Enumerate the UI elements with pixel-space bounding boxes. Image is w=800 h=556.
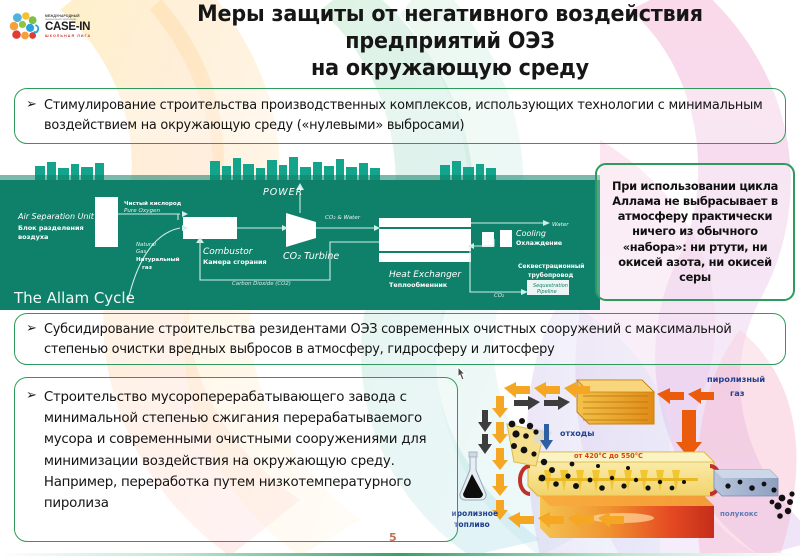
svg-text:POWER: POWER <box>263 187 303 198</box>
brain-icon <box>8 10 42 44</box>
label-temperature: от 420°С до 550°С <box>574 452 643 460</box>
svg-text:CO₂: CO₂ <box>494 293 505 299</box>
page-title: Меры защиты от негативного воздействия п… <box>125 2 775 82</box>
svg-text:Cooling: Cooling <box>516 229 546 238</box>
label-pyrolysis-gas-line1: пиролизный <box>707 374 765 384</box>
svg-text:Heat Exchanger: Heat Exchanger <box>389 270 462 280</box>
svg-text:воздуха: воздуха <box>18 233 48 241</box>
svg-text:Натуральный: Натуральный <box>136 256 180 263</box>
bullet-arrow-icon: ➢ <box>26 320 44 338</box>
bullet-text-1: Стимулирование строительства производств… <box>44 96 764 136</box>
label-semicoke: полукокс <box>720 510 758 518</box>
bullet-box-3: ➢ Строительство мусороперерабатывающего … <box>14 377 458 542</box>
slide-header: МЕЖДУНАРОДНЫЙ инженерный чемпионат CASE-… <box>0 0 800 78</box>
allam-cycle-diagram: Air Separation Unit Блок разделения возд… <box>0 180 600 310</box>
label-pyrolysis-gas-line2: газ <box>730 388 745 398</box>
mouse-cursor-icon <box>455 366 471 384</box>
city-skyline-decoration <box>0 155 600 181</box>
svg-text:Pure Oxygen: Pure Oxygen <box>124 208 160 214</box>
svg-text:Блок разделения: Блок разделения <box>18 224 84 232</box>
svg-text:Air Separation Unit: Air Separation Unit <box>17 212 95 221</box>
page-title-line2: на окружающую среду <box>125 56 775 83</box>
svg-text:CO₂ & Water: CO₂ & Water <box>325 215 361 221</box>
label-waste: отходы <box>560 429 594 438</box>
svg-text:Natural: Natural <box>136 242 156 248</box>
logo-line-school-league: ШКОЛЬНАЯ ЛИГА <box>45 35 91 39</box>
logo-brand-name: CASE-IN <box>45 22 91 34</box>
bullet-text-2: Субсидирование строительства резидентами… <box>44 320 764 359</box>
slide: МЕЖДУНАРОДНЫЙ инженерный чемпионат CASE-… <box>0 0 800 556</box>
svg-text:Охлаждение: Охлаждение <box>516 240 562 247</box>
svg-text:Combustor: Combustor <box>203 247 254 257</box>
bullet-arrow-icon: ➢ <box>26 96 44 114</box>
svg-text:Чистый кислород: Чистый кислород <box>124 200 182 207</box>
bullet-box-2: ➢ Субсидирование строительства резидента… <box>14 313 786 365</box>
case-in-logo: МЕЖДУНАРОДНЫЙ инженерный чемпионат CASE-… <box>8 6 100 48</box>
svg-text:Pipeline: Pipeline <box>537 289 557 295</box>
label-fuel-line2: топливо <box>454 520 490 529</box>
bullet-text-3: Строительство мусороперерабатывающего за… <box>44 387 449 514</box>
svg-text:Камера сгорания: Камера сгорания <box>203 258 267 266</box>
svg-text:CO₂ Turbine: CO₂ Turbine <box>283 251 339 262</box>
bullet-arrow-icon: ➢ <box>26 387 44 405</box>
svg-text:трубопровод: трубопровод <box>528 272 573 279</box>
svg-text:газ: газ <box>142 265 152 271</box>
note-box-text: При использовании цикла Аллама не выбрас… <box>604 179 786 285</box>
svg-text:Carbon Dioxide (CO2): Carbon Dioxide (CO2) <box>232 281 291 287</box>
note-box-allam: При использовании цикла Аллама не выбрас… <box>595 163 795 301</box>
svg-text:Секвестрационный: Секвестрационный <box>518 263 584 270</box>
pyrolysis-diagram: пиролизный газ отходы от 420°С до 550°С … <box>452 366 800 556</box>
svg-text:Gas: Gas <box>136 249 146 255</box>
svg-text:Water: Water <box>552 222 569 228</box>
label-fuel-line1: пиролизное <box>452 509 498 518</box>
svg-text:The Allam Cycle: The Allam Cycle <box>13 289 135 307</box>
page-title-line1: Меры защиты от негативного воздействия п… <box>125 2 775 56</box>
svg-text:Теплообменник: Теплообменник <box>389 281 448 289</box>
bullet-box-1: ➢ Стимулирование строительства производс… <box>14 88 786 144</box>
page-number: 5 <box>389 531 397 544</box>
